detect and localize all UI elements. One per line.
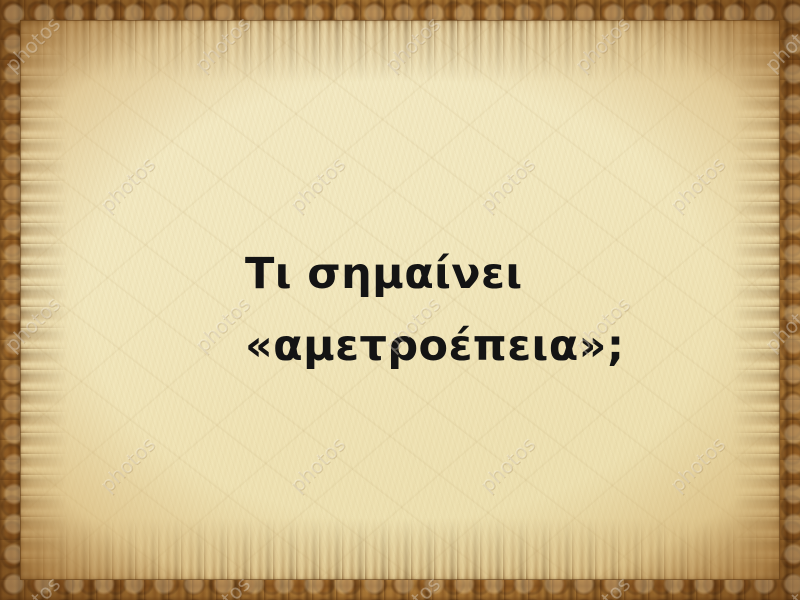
- slide-title-line-1: Τι σημαίνει: [245, 238, 765, 310]
- slide-text-block: Τι σημαίνει «αμετροέπεια»;: [245, 238, 765, 382]
- slide-title-line-2: «αμετροέπεια»;: [245, 310, 765, 382]
- slide-canvas: Τι σημαίνει «αμετροέπεια»; photosphotosp…: [0, 0, 800, 600]
